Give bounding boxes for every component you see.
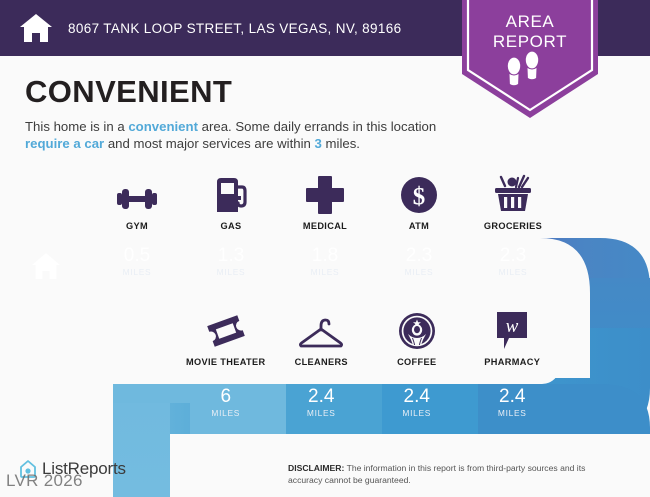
badge-text: AREA REPORT [462,12,598,52]
distance-cell-gas: 1.3 MILES [184,243,278,293]
intro-highlight-3: 3 [315,136,322,151]
distance-unit: MILES [211,408,240,418]
distance-unit: MILES [311,267,340,277]
watermark: LVR 2026 [6,471,83,491]
distance-row-2: 6 MILES 2.4 MILES 2.4 MILES 2.4 MILES [178,384,560,434]
distance-unit: MILES [307,408,336,418]
category-label: CLEANERS [295,357,348,367]
intro-text-2: area. Some daily errands in this locatio… [198,119,436,134]
walgreens-icon: w [493,308,531,350]
distance-unit: MILES [217,267,246,277]
category-label: GAS [221,221,242,231]
disclaimer-label: DISCLAIMER: [288,463,344,473]
intro-paragraph: This home is in a convenient area. Some … [25,118,445,152]
category-coffee: COFFEE [369,308,465,367]
distance-unit: MILES [402,408,431,418]
dollar-circle-icon: $ [400,172,438,214]
distance-cell-pharmacy: 2.4 MILES [465,384,561,434]
distance-value: 2.4 [308,386,334,408]
svg-text:w: w [506,316,519,337]
distance-row-1: 0.5 MILES 1.3 MILES 1.8 MILES 2.3 MILES … [90,243,560,293]
distance-unit: MILES [499,267,528,277]
category-groceries: GROCERIES [466,172,560,231]
home-icon [30,250,62,282]
category-cleaners: CLEANERS [274,308,370,367]
distance-unit: MILES [405,267,434,277]
distance-cell-groceries: 2.3 MILES [466,243,560,293]
movie-ticket-icon [206,308,246,350]
category-icon-row-2: MOVIE THEATER CLEANERS [178,308,560,367]
intro-text-1: This home is in a [25,119,128,134]
category-atm: $ ATM [372,172,466,231]
property-address: 8067 TANK LOOP STREET, LAS VEGAS, NV, 89… [68,21,401,36]
distance-value: 1.3 [218,245,244,267]
category-label: GYM [126,221,148,231]
intro-highlight-1: convenient [128,119,198,134]
distance-cell-gym: 0.5 MILES [90,243,184,293]
gas-pump-icon [214,172,248,214]
category-label: ATM [409,221,429,231]
category-label: PHARMACY [484,357,540,367]
disclaimer: DISCLAIMER: The information in this repo… [288,463,618,486]
category-label: MEDICAL [303,221,347,231]
grocery-basket-icon [492,172,534,214]
category-movie-theater: MOVIE THEATER [178,308,274,367]
intro-highlight-2: require a car [25,136,104,151]
badge-line-1: AREA [462,12,598,32]
category-icon-row-1: GYM GAS MEDICAL [90,172,560,231]
distance-unit: MILES [123,267,152,277]
distance-cell-medical: 1.8 MILES [278,243,372,293]
distance-value: 6 [220,386,231,408]
distance-cell-cleaners: 2.4 MILES [274,384,370,434]
area-report-page: 8067 TANK LOOP STREET, LAS VEGAS, NV, 89… [0,0,650,497]
category-gym: GYM [90,172,184,231]
svg-text:$: $ [413,184,426,211]
distance-value: 2.4 [499,386,525,408]
badge-line-2: REPORT [462,32,598,52]
distance-value: 0.5 [124,245,150,267]
category-medical: MEDICAL [278,172,372,231]
category-label: COFFEE [397,357,436,367]
area-report-badge: AREA REPORT [462,0,598,118]
page-title: CONVENIENT [25,74,232,110]
medical-cross-icon [306,172,344,214]
category-label: GROCERIES [484,221,542,231]
distance-cell-coffee: 2.4 MILES [369,384,465,434]
starbucks-icon [398,308,436,350]
category-gas: GAS [184,172,278,231]
distance-value: 2.4 [404,386,430,408]
intro-text-3: and most major services are within [104,136,314,151]
distance-unit: MILES [498,408,527,418]
distance-value: 1.8 [312,245,338,267]
hanger-icon [298,308,344,350]
distance-cell-atm: 2.3 MILES [372,243,466,293]
dumbbell-icon [114,172,160,214]
distance-value: 2.3 [500,245,526,267]
distance-cell-movie-theater: 6 MILES [178,384,274,434]
distance-value: 2.3 [406,245,432,267]
category-label: MOVIE THEATER [186,357,265,367]
category-pharmacy: w PHARMACY [465,308,561,367]
home-icon [18,10,54,46]
intro-text-4: miles. [322,136,360,151]
